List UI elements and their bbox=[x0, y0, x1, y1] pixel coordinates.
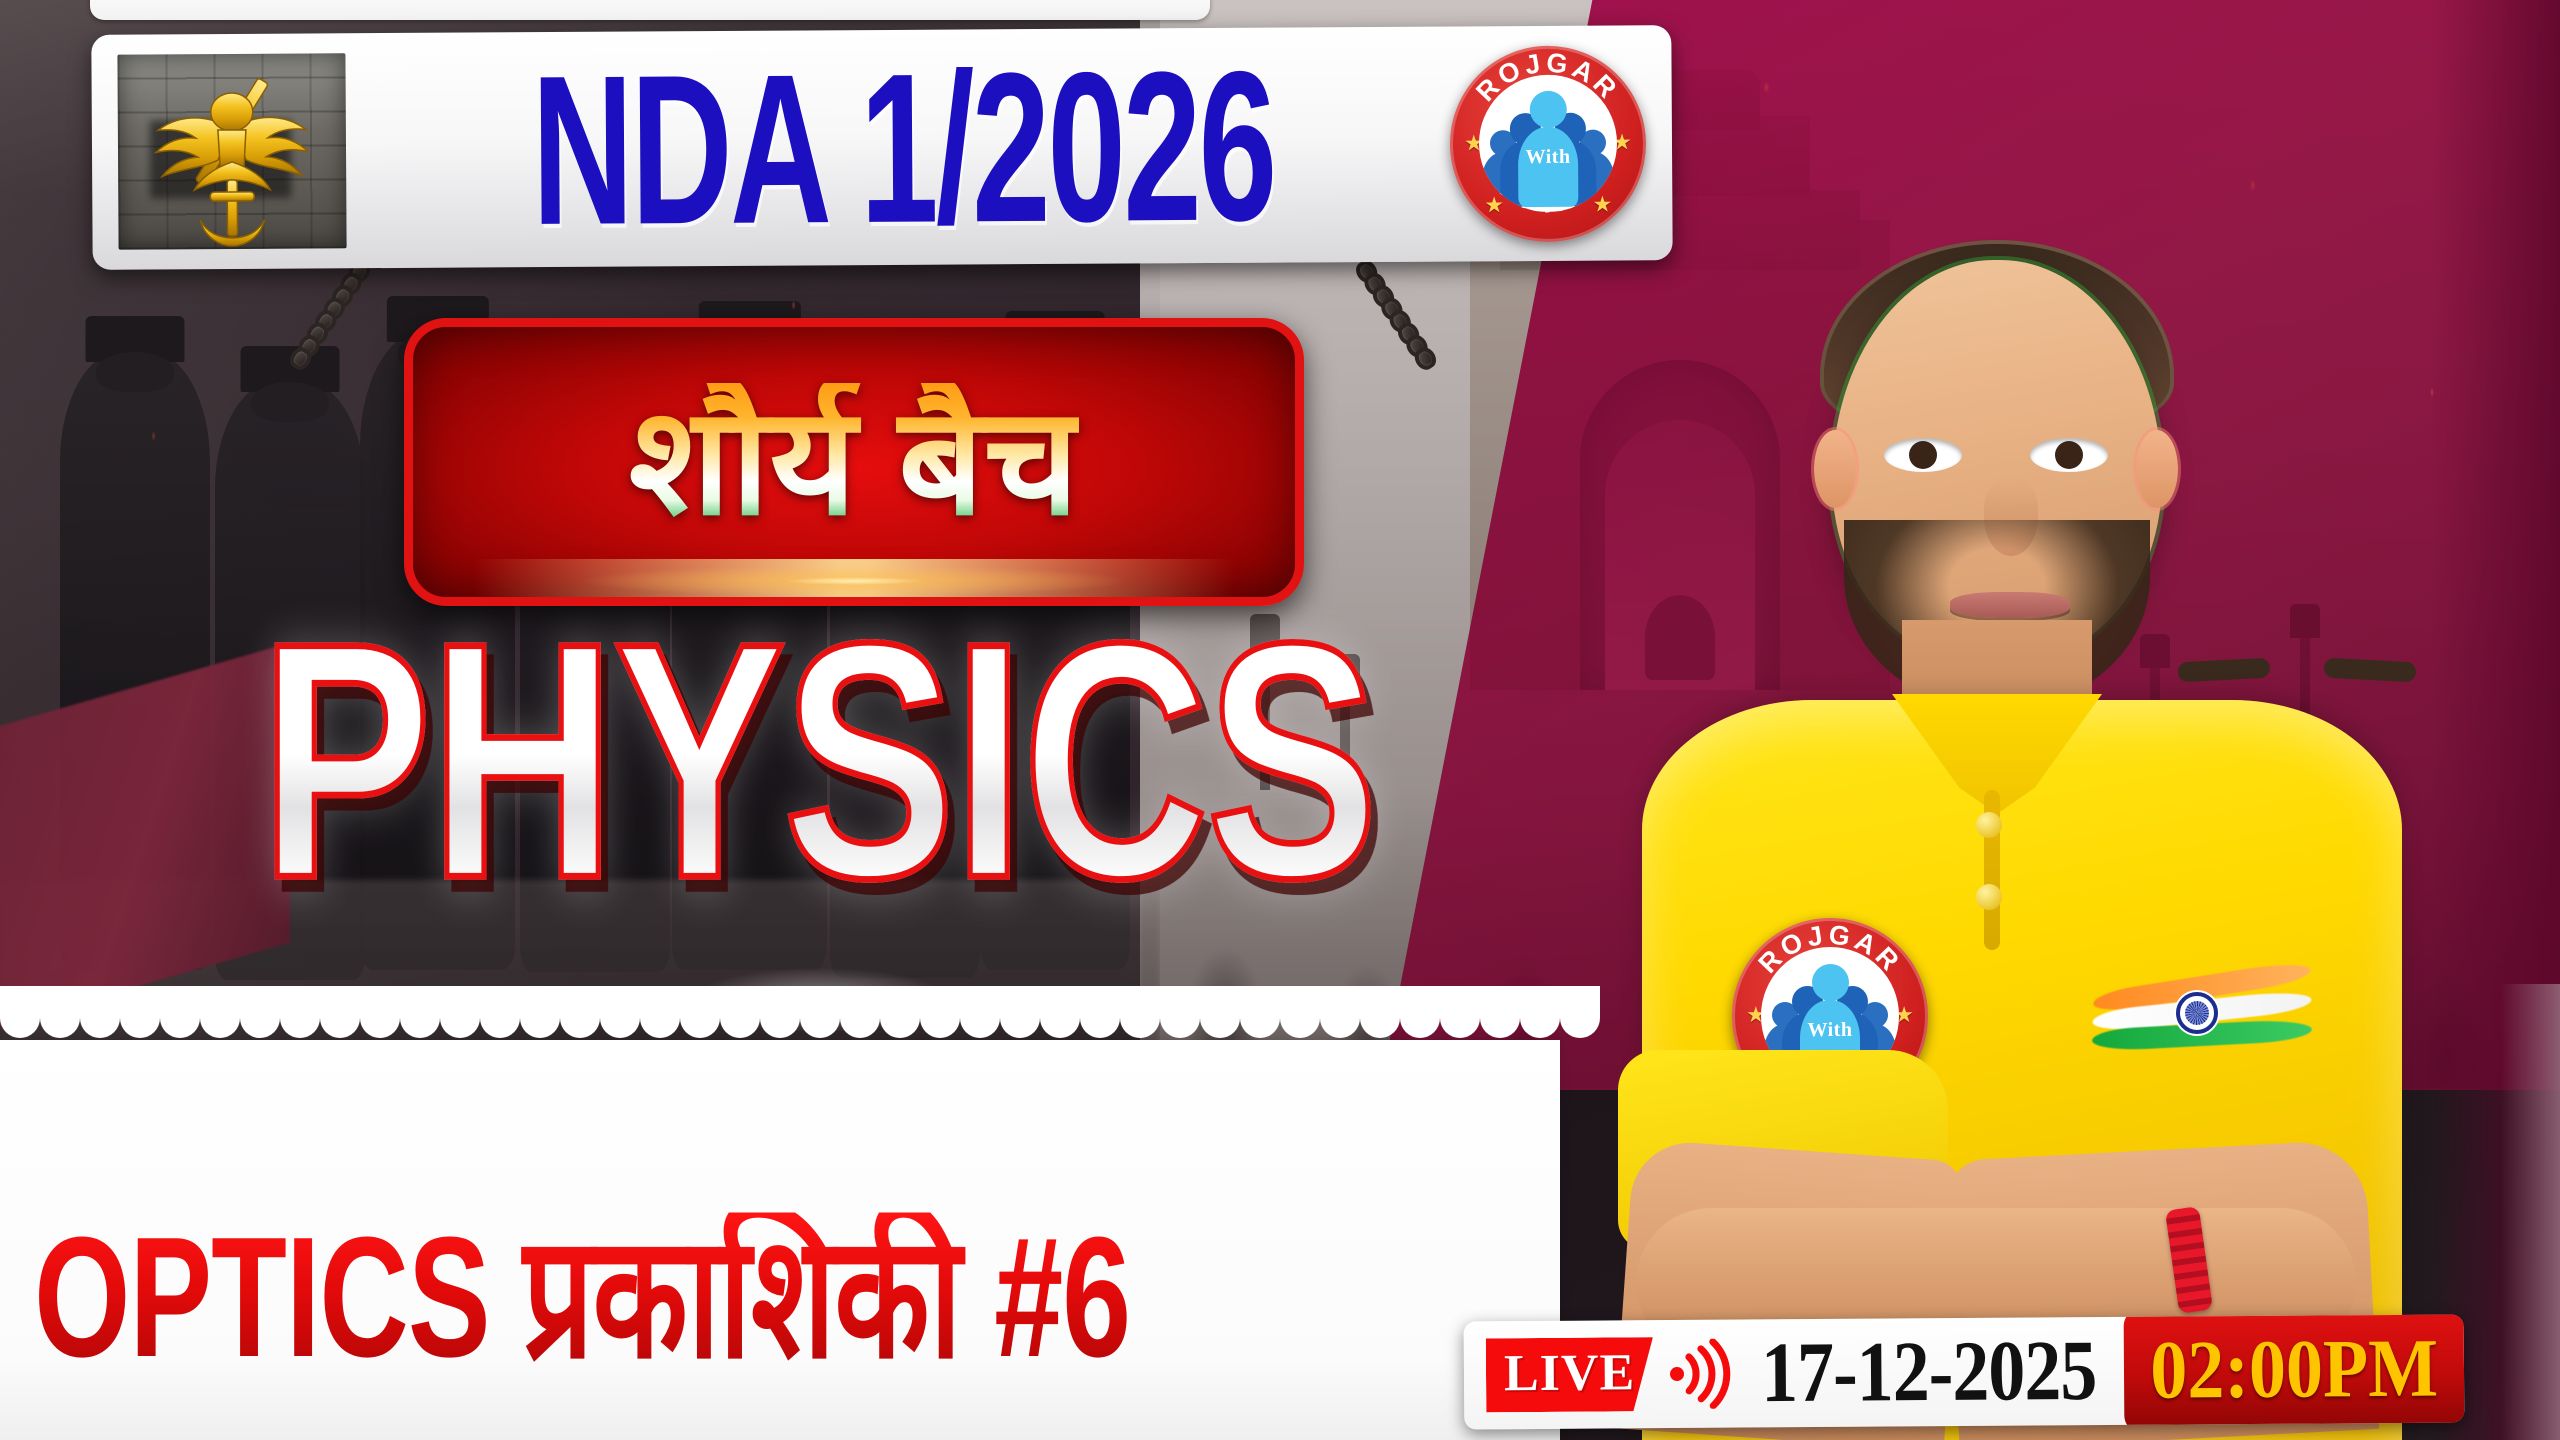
india-flag-icon bbox=[2092, 966, 2312, 1062]
ashoka-chakra-icon bbox=[2176, 992, 2218, 1034]
presenter-mouth bbox=[1950, 592, 2070, 618]
subject-title: PHYSICS bbox=[149, 594, 1488, 929]
topic-title: OPTICS प्रकाशिकी #6 bbox=[34, 1212, 1514, 1383]
thumbnail-canvas: NDA 1/2026 ROJGAR ANKIT ★ ★ ★ bbox=[0, 0, 2560, 1440]
shirt-button bbox=[1976, 884, 2002, 910]
live-badge: LIVE bbox=[1486, 1337, 1654, 1412]
shirt-button bbox=[1976, 812, 2002, 838]
nda-crest-icon bbox=[117, 53, 346, 249]
presenter-eye-left bbox=[1884, 438, 1962, 472]
broadcast-icon bbox=[1655, 1339, 1733, 1410]
panel-right-fade bbox=[2501, 984, 2560, 1440]
scalloped-edge bbox=[0, 986, 1600, 1042]
presenter: ROJGAR ANKIT ★ ★ ★ ★ bbox=[1532, 0, 2432, 1440]
presenter-ear-right bbox=[2136, 430, 2178, 508]
live-date: 17-12-2025 bbox=[1733, 1322, 2125, 1423]
top-strip bbox=[90, 0, 1210, 20]
presenter-ear-left bbox=[1814, 430, 1856, 508]
exam-title: NDA 1/2026 bbox=[388, 38, 1418, 257]
batch-label: शौर्य बैच bbox=[629, 383, 1079, 541]
brand-logo-center-text: With bbox=[1761, 1019, 1898, 1042]
live-time: 02:00PM bbox=[2124, 1315, 2464, 1430]
presenter-eye-right bbox=[2030, 438, 2108, 472]
live-info-bar: LIVE 17-12-2025 02:00PM bbox=[1464, 1315, 2465, 1430]
exam-title-banner: NDA 1/2026 ROJGAR ANKIT ★ ★ ★ bbox=[91, 25, 1672, 270]
batch-plaque: शौर्य बैच bbox=[404, 318, 1304, 606]
